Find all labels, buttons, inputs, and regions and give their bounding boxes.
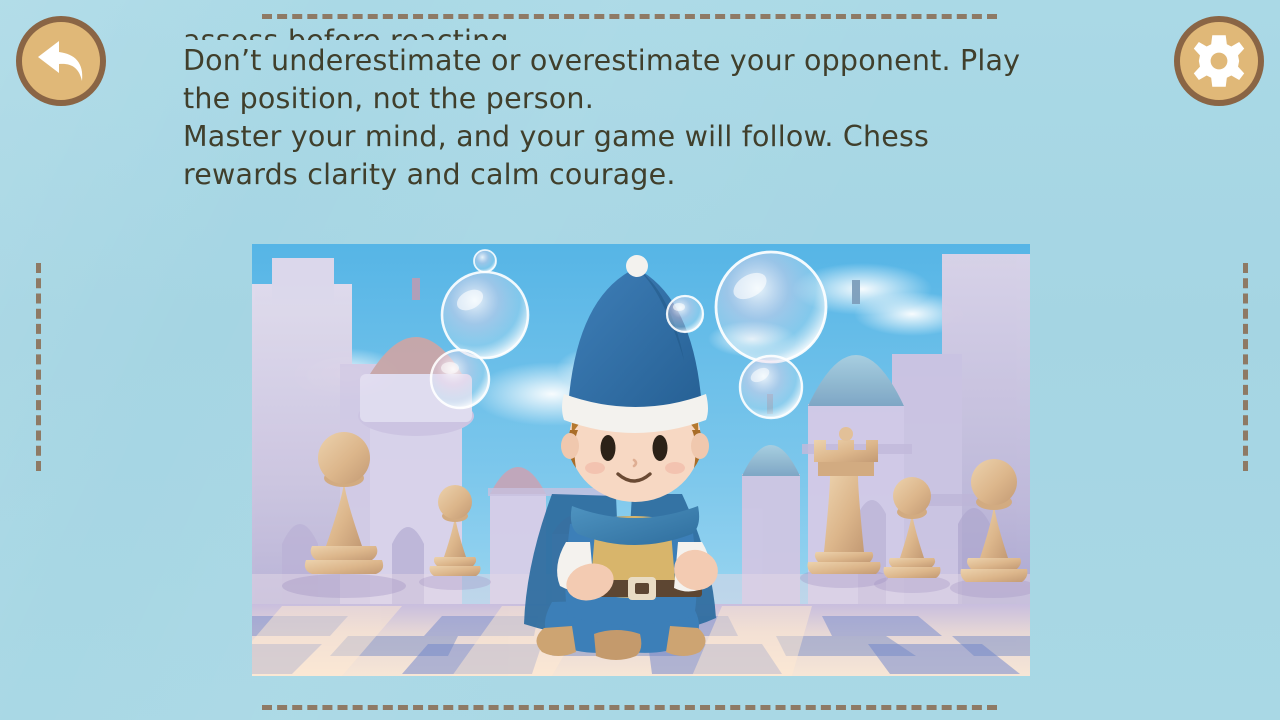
- bubble: [474, 250, 496, 272]
- gear-icon: [1191, 33, 1247, 89]
- bubble: [442, 272, 528, 358]
- back-arrow-icon: [34, 37, 88, 85]
- lesson-line-clipped: assess before reacting.: [183, 22, 1083, 40]
- bubble: [716, 252, 826, 362]
- app-screen: assess before reacting. Don’t underestim…: [0, 0, 1280, 720]
- lesson-text-block: assess before reacting. Don’t underestim…: [183, 22, 1083, 194]
- lesson-line-3: rewards clarity and calm courage.: [183, 156, 1083, 194]
- lesson-line-1: the position, not the person.: [183, 80, 1083, 118]
- dashed-border-right: [1243, 263, 1248, 471]
- lesson-illustration: [252, 244, 1030, 676]
- illustration-artwork: [252, 244, 1030, 676]
- lesson-line-2: Master your mind, and your game will fol…: [183, 118, 1083, 156]
- settings-button[interactable]: [1174, 16, 1264, 106]
- dashed-border-left: [36, 263, 41, 471]
- dashed-border-bottom: [262, 705, 997, 710]
- bubble: [740, 356, 802, 418]
- lesson-line-0: Don’t underestimate or overestimate your…: [183, 42, 1083, 80]
- dashed-border-top: [262, 14, 997, 19]
- bubble: [667, 296, 703, 332]
- back-button[interactable]: [16, 16, 106, 106]
- bubble: [431, 350, 489, 408]
